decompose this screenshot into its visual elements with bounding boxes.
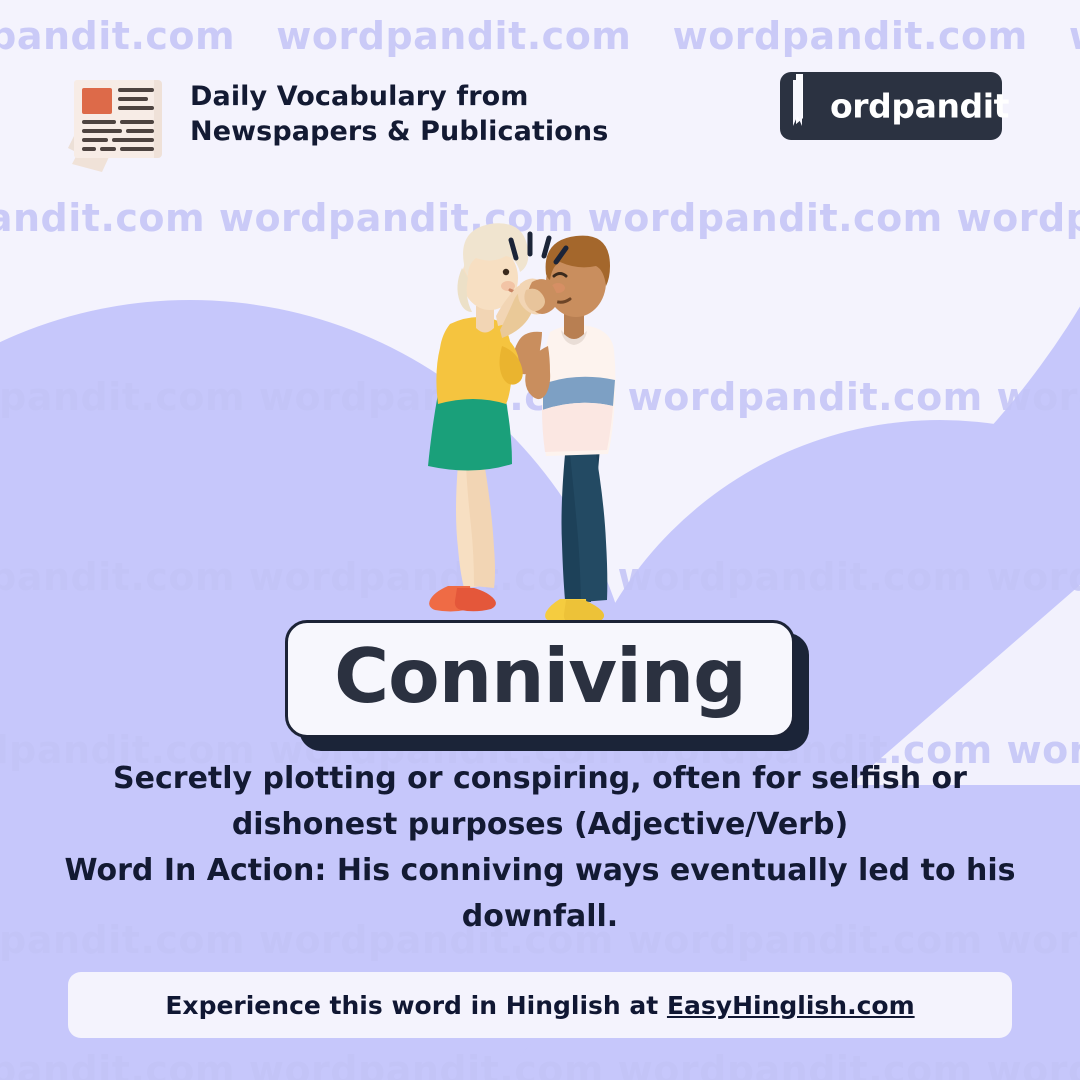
word-card-wrapper: Conniving [0, 620, 1080, 738]
header-title-line2: Newspapers & Publications [190, 115, 608, 150]
usage-block: Word In Action: His conniving ways event… [30, 848, 1050, 939]
definition-line1: Secretly plotting or conspiring, often f… [50, 756, 1030, 802]
poster-canvas: wordpandit.com wordpandit.com wordpandit… [0, 0, 1080, 1080]
logo-text: ordpandit [830, 87, 1009, 126]
footer-text: Experience this word in Hinglish at Easy… [165, 991, 914, 1020]
usage-line2: downfall. [30, 894, 1050, 940]
word-title: Conniving [334, 637, 746, 717]
definition-line2: dishonest purposes (Adjective/Verb) [50, 802, 1030, 848]
definition-block: Secretly plotting or conspiring, often f… [50, 756, 1030, 847]
footer-prefix: Experience this word in Hinglish at [165, 991, 667, 1020]
header-title-line1: Daily Vocabulary from [190, 80, 608, 115]
newspaper-icon [58, 72, 174, 176]
usage-line1: Word In Action: His conniving ways event… [30, 848, 1050, 894]
header: Daily Vocabulary from Newspapers & Publi… [0, 58, 1080, 178]
word-card[interactable]: Conniving [285, 620, 795, 738]
easyhinglish-link[interactable]: EasyHinglish.com [667, 991, 915, 1020]
footer-bar[interactable]: Experience this word in Hinglish at Easy… [68, 972, 1012, 1038]
header-title: Daily Vocabulary from Newspapers & Publi… [190, 80, 608, 149]
wordpandit-logo[interactable]: ordpandit [780, 72, 1002, 140]
illustration-two-people [398, 214, 698, 634]
